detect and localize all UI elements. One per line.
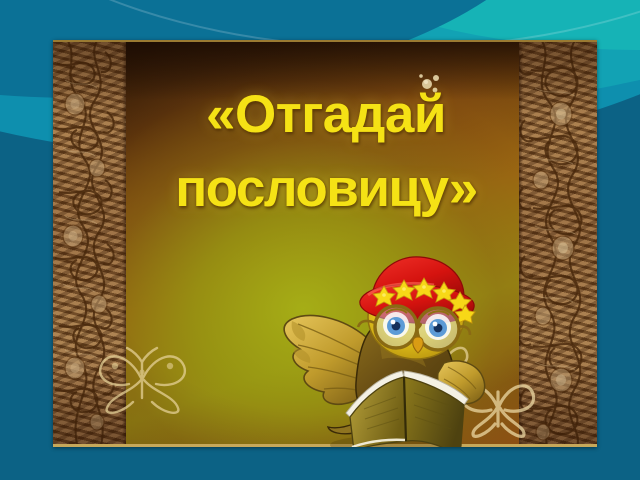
owl-hat (360, 257, 475, 324)
border-shading-right (519, 40, 597, 447)
slide-title: «Отгадай пословицу» (128, 78, 524, 226)
ornamental-border-left (53, 40, 126, 447)
border-shading-left (53, 40, 126, 447)
ornamental-border-right (519, 40, 597, 447)
presentation-slide: «Отгадай пословицу» (53, 40, 597, 447)
owl-reading-book-illustration (268, 245, 508, 447)
border-edge-left (122, 40, 126, 447)
slide-canvas: «Отгадай пословицу» (0, 0, 640, 480)
title-line-2: пословицу» (128, 152, 524, 226)
title-line-1: «Отгадай (128, 78, 524, 152)
